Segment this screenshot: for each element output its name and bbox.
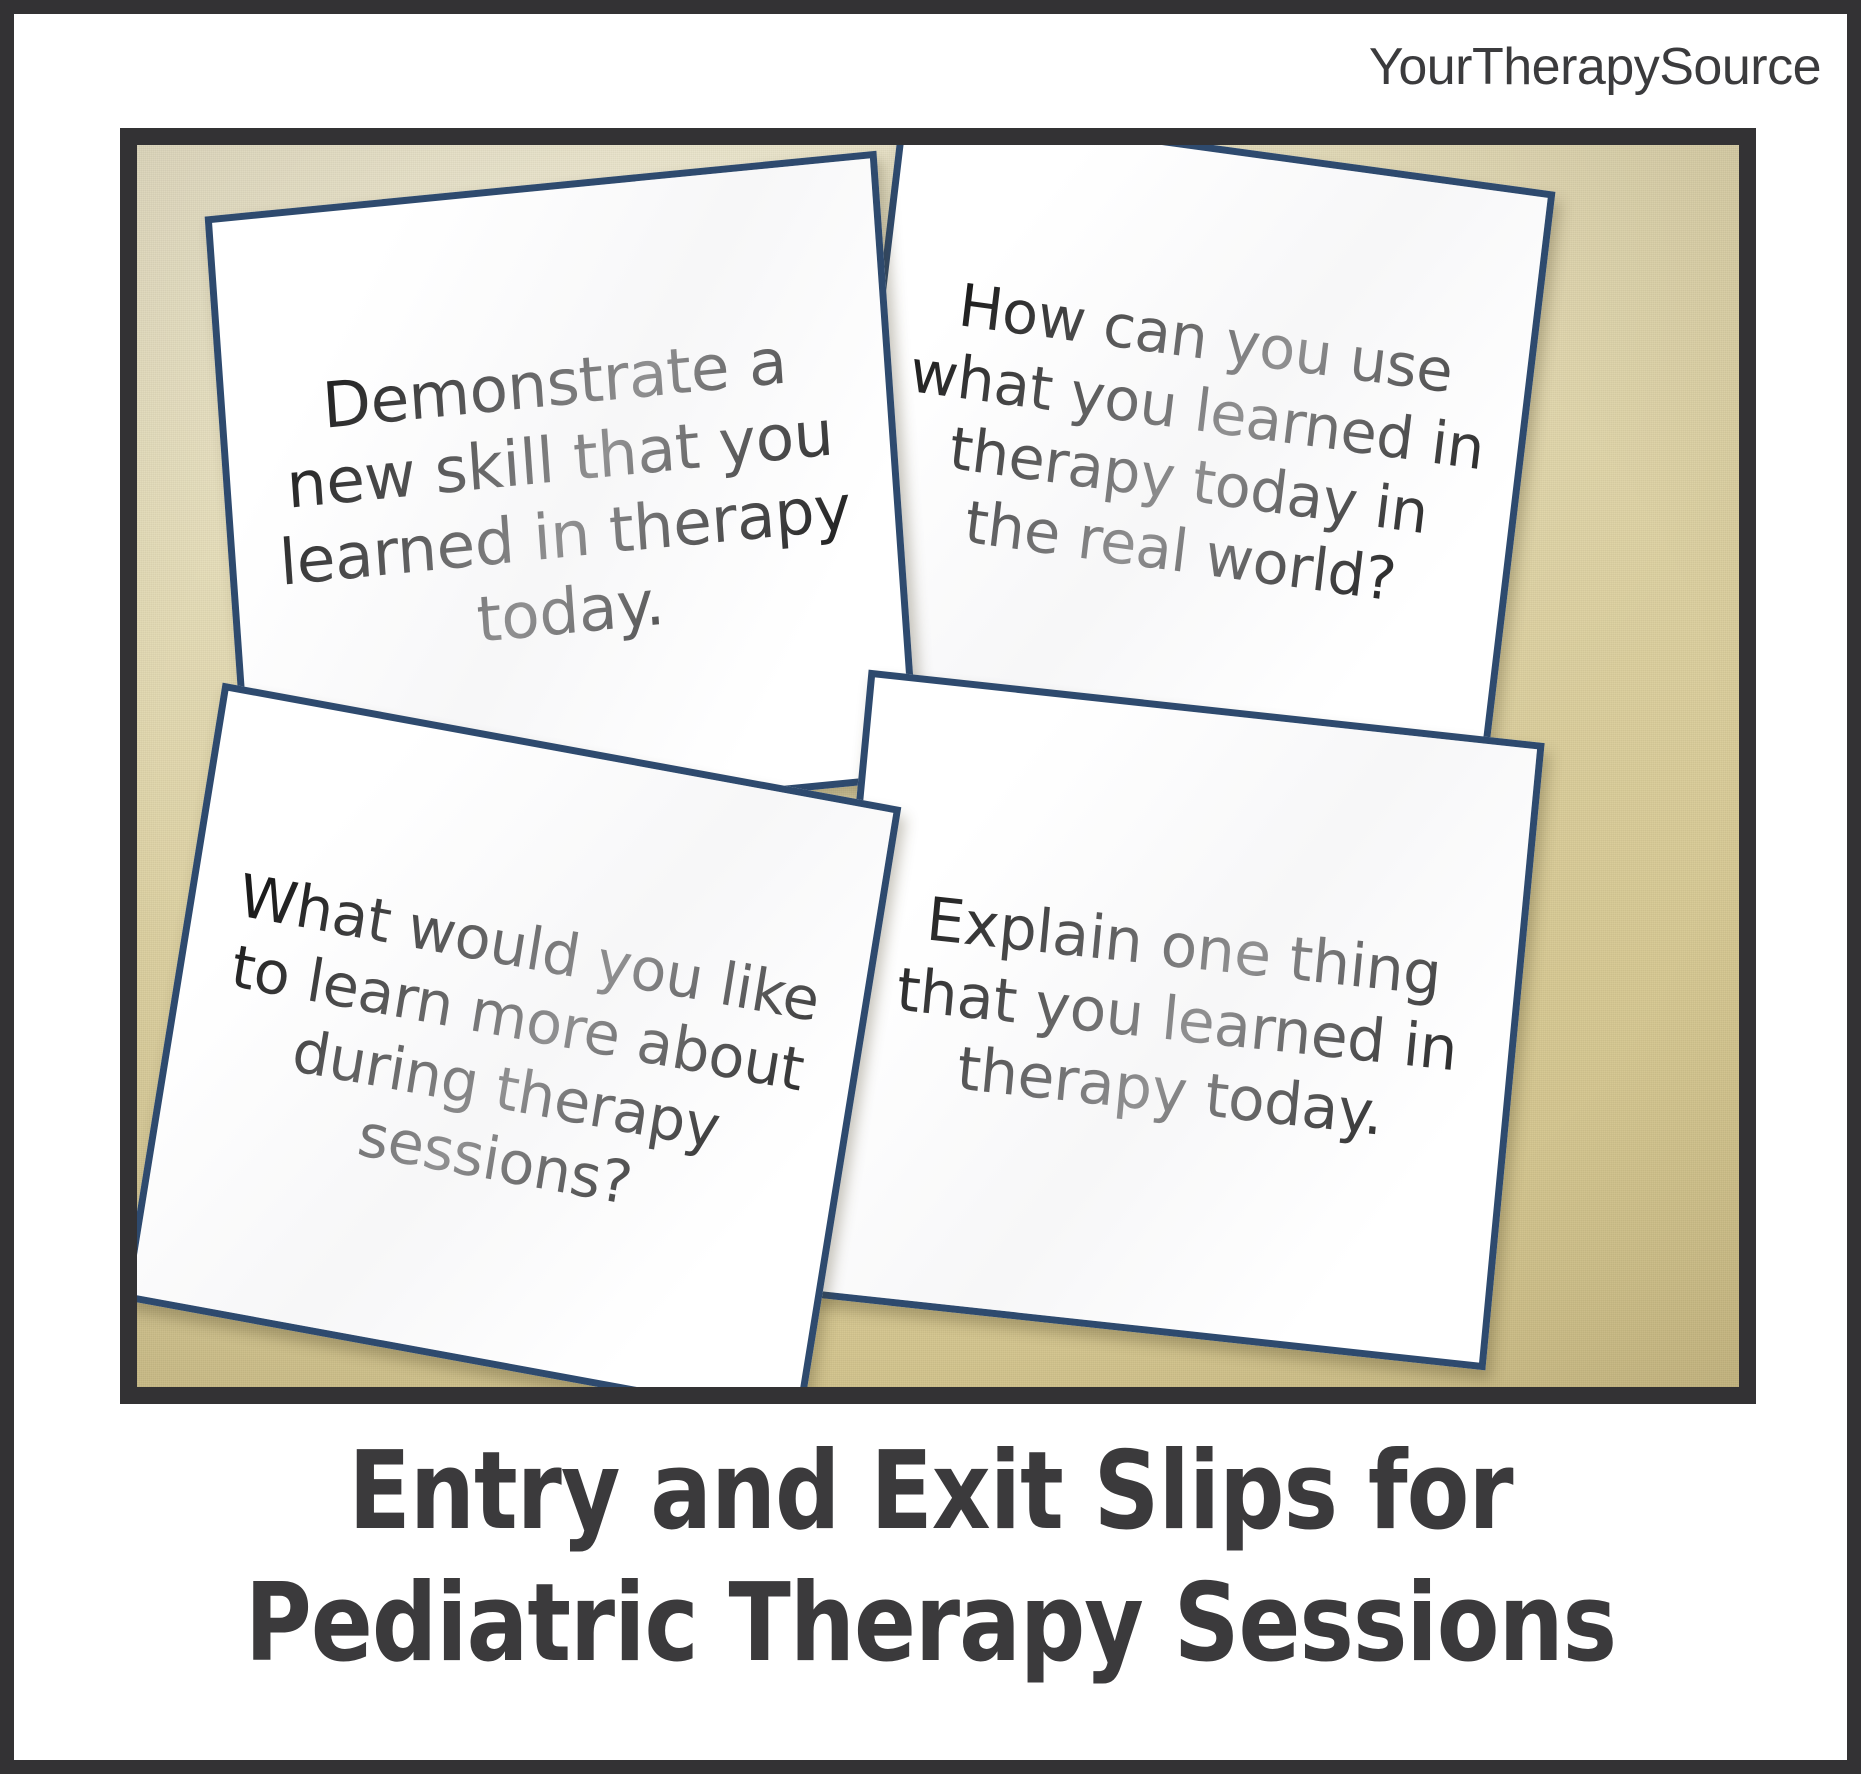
therapy-card-text: Demonstrate a new skill that you learned… <box>249 316 876 680</box>
therapy-card-explain-one-thing: Explain one thing that you learned in th… <box>809 670 1544 1371</box>
poster-canvas: YourTherapySource Demonstrate a new skil… <box>0 0 1861 1774</box>
therapy-card-text: Explain one thing that you learned in th… <box>862 878 1493 1161</box>
poster-title: Entry and Exit Slips for Pediatric Thera… <box>14 1426 1847 1690</box>
brand-row: YourTherapySource <box>1369 30 1821 104</box>
therapy-card-learn-more: What would you like to learn more about … <box>137 683 901 1387</box>
title-line-2: Pediatric Therapy Sessions <box>107 1558 1755 1690</box>
photo-of-therapy-cards: Demonstrate a new skill that you learned… <box>137 145 1739 1387</box>
brand-wordmark: YourTherapySource <box>1369 37 1821 97</box>
therapy-card-text: What would you like to learn more about … <box>182 856 841 1251</box>
title-line-1: Entry and Exit Slips for <box>107 1426 1755 1558</box>
therapy-card-text: How can you use what you learned in ther… <box>882 263 1504 627</box>
photo-frame: Demonstrate a new skill that you learned… <box>120 128 1756 1404</box>
